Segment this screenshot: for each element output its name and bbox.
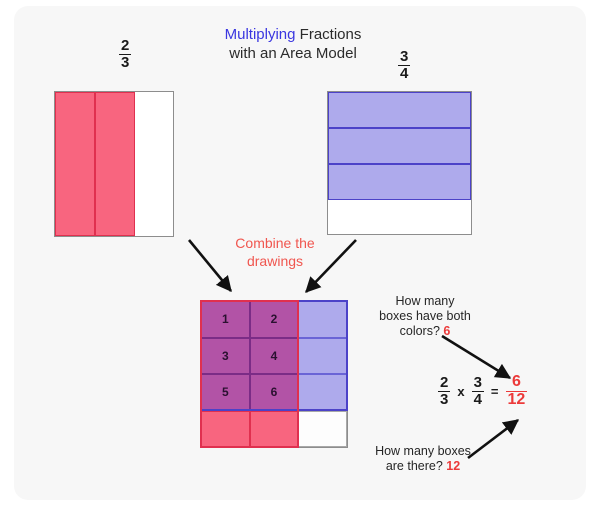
title-line-2: with an Area Model <box>178 44 408 63</box>
final-equation: 2 3 x 3 4 = 6 12 <box>438 374 527 409</box>
right-fraction-denominator: 4 <box>398 66 410 82</box>
equation-result-numerator: 6 <box>506 374 528 392</box>
right-model-row <box>328 200 471 234</box>
equals-symbol: = <box>491 384 499 399</box>
right-model-row <box>328 128 471 164</box>
question-both-line-2: boxes have both <box>362 309 488 324</box>
grid-cell: 1 <box>201 301 250 338</box>
left-fraction-denominator: 3 <box>119 55 131 71</box>
page-title: Multiplying Fractions with an Area Model <box>178 25 408 63</box>
question-total-boxes: How many boxes are there? 12 <box>358 444 488 474</box>
equation-result-denominator: 12 <box>506 392 528 409</box>
title-line-1: Multiplying Fractions <box>178 25 408 44</box>
grid-cell: 4 <box>250 338 299 375</box>
left-model-column <box>135 92 173 236</box>
equation-right-denominator: 4 <box>472 392 484 408</box>
grid-cell <box>201 411 250 448</box>
title-line-1-rest: Fractions <box>296 26 362 43</box>
grid-cell <box>298 374 347 411</box>
question-both-line-3: colors? 6 <box>362 324 488 339</box>
combine-line-2: drawings <box>215 252 335 270</box>
combine-line-1: Combine the <box>215 234 335 252</box>
equation-left-numerator: 2 <box>438 375 450 392</box>
equation-right-fraction: 3 4 <box>472 375 484 408</box>
question-both-colors: How many boxes have both colors? 6 <box>362 294 488 339</box>
grid-cell <box>298 301 347 338</box>
right-area-model <box>327 91 472 235</box>
grid-cell: 2 <box>250 301 299 338</box>
answer-total-boxes: 12 <box>446 459 460 473</box>
answer-both-colors: 6 <box>443 324 450 338</box>
grid-cell <box>298 411 347 448</box>
title-highlight-word: Multiplying <box>225 26 296 43</box>
question-total-line-1: How many boxes <box>358 444 488 459</box>
grid-cell <box>250 411 299 448</box>
grid-cell: 6 <box>250 374 299 411</box>
equation-result-fraction: 6 12 <box>506 374 528 409</box>
equation-left-fraction: 2 3 <box>438 375 450 408</box>
diagram-canvas: Multiplying Fractions with an Area Model… <box>0 0 600 507</box>
left-fraction-label: 2 3 <box>119 38 131 71</box>
equation-left-denominator: 3 <box>438 392 450 408</box>
right-model-row <box>328 164 471 200</box>
right-fraction-label: 3 4 <box>398 49 410 82</box>
left-model-column <box>55 92 95 236</box>
left-area-model <box>54 91 174 237</box>
question-total-line-2-prefix: are there? <box>386 459 446 473</box>
question-total-line-2: are there? 12 <box>358 459 488 474</box>
left-model-column <box>95 92 135 236</box>
right-model-row <box>328 92 471 128</box>
grid-cell: 3 <box>201 338 250 375</box>
grid-cell: 5 <box>201 374 250 411</box>
equation-right-numerator: 3 <box>472 375 484 392</box>
right-fraction-numerator: 3 <box>398 49 410 66</box>
left-fraction-numerator: 2 <box>119 38 131 55</box>
question-both-line-3-prefix: colors? <box>400 324 444 338</box>
combine-instruction: Combine the drawings <box>215 234 335 270</box>
combined-area-model-grid: 1 2 3 4 5 6 <box>200 300 348 448</box>
question-both-line-1: How many <box>362 294 488 309</box>
multiplication-symbol: x <box>457 384 464 399</box>
grid-cell <box>298 338 347 375</box>
